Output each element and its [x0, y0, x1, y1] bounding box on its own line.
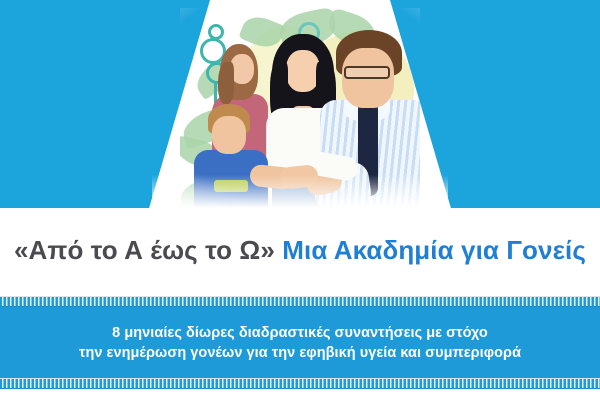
- page-title: «Από το Α έως το Ω» Μια Ακαδημία για Γον…: [14, 235, 586, 266]
- figure-teen-girl-hair-side: [218, 62, 234, 104]
- family-illustration: [180, 8, 420, 208]
- figure-mother-face: [286, 50, 320, 92]
- figure-boy-face: [212, 116, 246, 154]
- title-band: «Από το Α έως το Ω» Μια Ακαδημία για Γον…: [0, 208, 600, 292]
- subtitle-banner: 8 μηνιαίες δίωρες διαδραστικές συναντήσε…: [0, 307, 600, 378]
- poster-root: «Από το Α έως το Ω» Μια Ακαδημία για Γον…: [0, 0, 600, 400]
- striped-divider-top: [0, 296, 600, 307]
- striped-divider-bottom: [0, 378, 600, 389]
- title-quoted-part: «Από το Α έως το Ω»: [14, 235, 275, 265]
- subtitle-line-2: την ενημέρωση γονέων για την εφηβική υγε…: [79, 345, 521, 361]
- figure-boy-tshirt-print: [214, 180, 248, 192]
- glasses-icon: [344, 66, 390, 79]
- title-highlight-part: Μια Ακαδημία για Γονείς: [282, 235, 586, 265]
- subtitle-line-1: 8 μηνιαίες δίωρες διαδραστικές συναντήσε…: [112, 325, 488, 341]
- illustration-stage: [152, 0, 448, 208]
